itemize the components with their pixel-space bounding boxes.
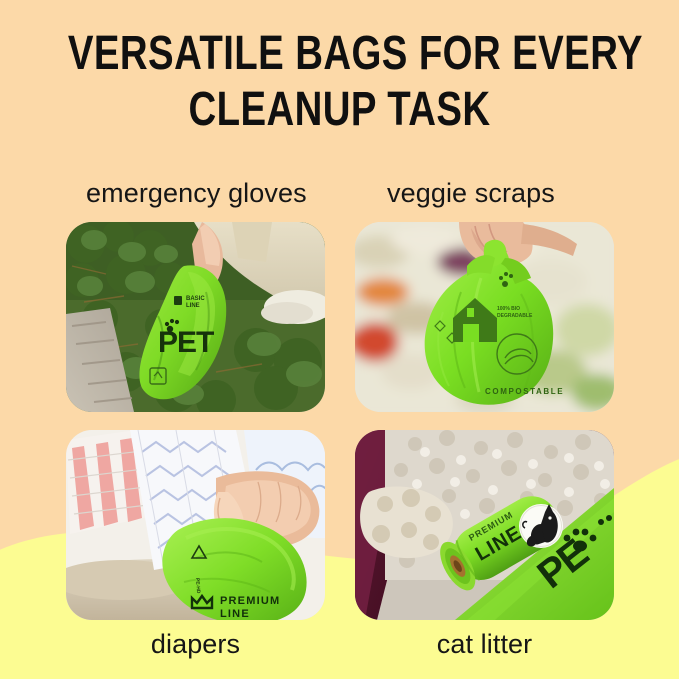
photo-card-veggie-scraps: COMPOSTABLE 100% BIO DEGRADABLE [355,222,614,412]
photo-card-cat-litter: PE LINE PREMIUM [355,430,614,620]
svg-text:100% BIO: 100% BIO [497,306,520,312]
svg-text:LINE: LINE [186,303,200,309]
svg-text:DEGRADABLE: DEGRADABLE [497,313,533,319]
caption-cat-litter: cat litter [355,620,614,668]
page-title-line-2: CLEANUP TASK [68,82,611,138]
page-title: VERSATILE BAGS FOR EVERY CLEANUP TASK [68,26,611,138]
panel-grid: emergency gloves veggie scraps [66,164,614,668]
caption-emergency-gloves: emergency gloves [66,164,325,222]
photo-card-diapers: PE-HD PREMIUM LINE [66,430,325,620]
page-title-line-1: VERSATILE BAGS FOR EVERY [68,26,611,82]
svg-text:PE-HD: PE-HD [194,578,201,594]
caption-veggie-scraps: veggie scraps [355,164,614,222]
svg-text:COMPOSTABLE: COMPOSTABLE [485,387,564,396]
photo-card-emergency-gloves: BASIC LINE PET [66,222,325,412]
svg-text:PET: PET [158,326,214,359]
svg-text:LINE: LINE [220,608,250,620]
infographic-root: VERSATILE BAGS FOR EVERY CLEANUP TASK em… [0,0,679,679]
caption-diapers: diapers [66,620,325,668]
svg-text:PREMIUM: PREMIUM [220,595,280,607]
svg-text:BASIC: BASIC [186,296,205,302]
